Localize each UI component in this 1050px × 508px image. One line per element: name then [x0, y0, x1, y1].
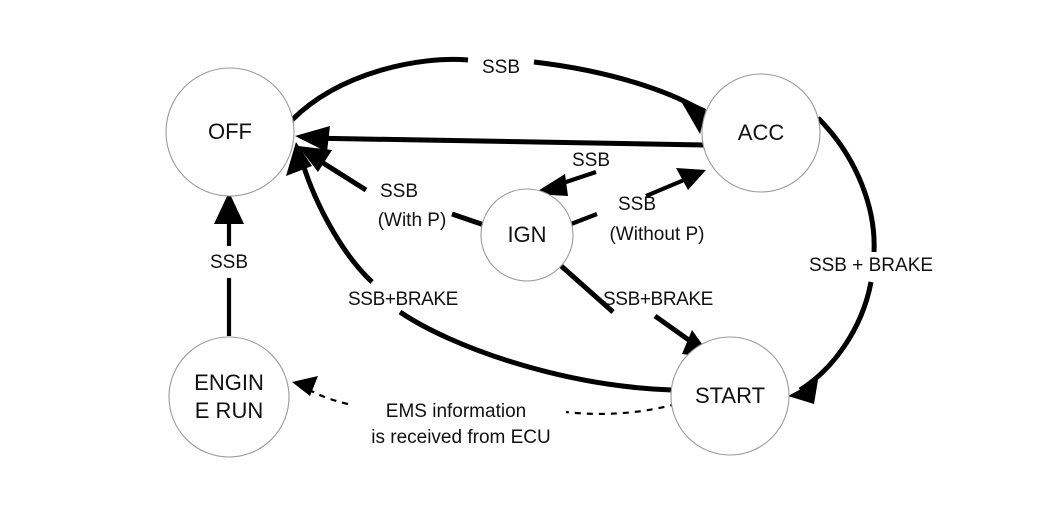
node-engine-run-label-line1: ENGIN	[194, 370, 264, 395]
edge-acc-to-off-path	[307, 138, 704, 145]
edge-off-to-acc-path-left	[292, 59, 468, 120]
edge-label-acc-to-ign: SSB	[572, 150, 610, 171]
edge-off-to-acc-path-right	[534, 62, 703, 112]
edge-label-ign-to-off-line1: SSB	[380, 181, 418, 202]
node-acc-label: ACC	[738, 120, 785, 145]
state-diagram: OFF ACC IGN START ENGIN E RUN SSB SSB SS…	[0, 0, 1050, 508]
edge-acc-to-off	[295, 126, 704, 152]
edge-start-to-off-path-lower	[400, 312, 672, 390]
edge-start-to-engine-run-path-right	[566, 404, 676, 414]
node-engine-run-circle	[169, 337, 289, 457]
edge-start-to-engine-run-path-left	[306, 388, 348, 404]
edge-start-to-off	[286, 142, 672, 390]
node-ign-label: IGN	[507, 222, 546, 247]
edge-label-ign-to-acc-line1: SSB	[618, 194, 656, 215]
edge-start-to-engine-run-arrowhead	[292, 376, 318, 396]
edge-label-start-to-engine-run-line2: is received from ECU	[371, 427, 551, 448]
edge-label-ign-to-off-line2: (With P)	[378, 210, 447, 231]
edge-acc-to-start-arrowhead	[788, 380, 818, 404]
node-engine-run[interactable]: ENGIN E RUN	[169, 337, 289, 457]
node-off[interactable]: OFF	[166, 68, 294, 196]
node-acc[interactable]: ACC	[702, 74, 820, 192]
node-engine-run-label-line2: E RUN	[195, 398, 263, 423]
edge-label-acc-to-start: SSB + BRAKE	[809, 255, 933, 276]
node-off-label: OFF	[208, 119, 252, 144]
edge-ign-to-start	[559, 264, 712, 358]
node-start[interactable]: START	[671, 337, 789, 455]
node-start-label: START	[695, 383, 765, 408]
edge-label-engine-run-to-off: SSB	[210, 252, 248, 273]
edge-label-off-to-acc: SSB	[482, 57, 520, 78]
edge-ign-to-acc-arrowhead	[676, 168, 706, 190]
edge-label-ign-to-acc-line2: (Without P)	[609, 224, 704, 245]
edge-label-start-to-off: SSB+BRAKE	[348, 289, 458, 310]
edge-label-ign-to-start: SSB+BRAKE	[603, 289, 713, 310]
edge-acc-to-start-path-upper	[818, 118, 874, 252]
edge-acc-to-start-path-lower	[800, 282, 871, 390]
edge-engine-run-to-off-arrowhead	[214, 192, 244, 224]
node-ign[interactable]: IGN	[481, 189, 573, 281]
edge-label-start-to-engine-run-line1: EMS information	[386, 401, 526, 422]
